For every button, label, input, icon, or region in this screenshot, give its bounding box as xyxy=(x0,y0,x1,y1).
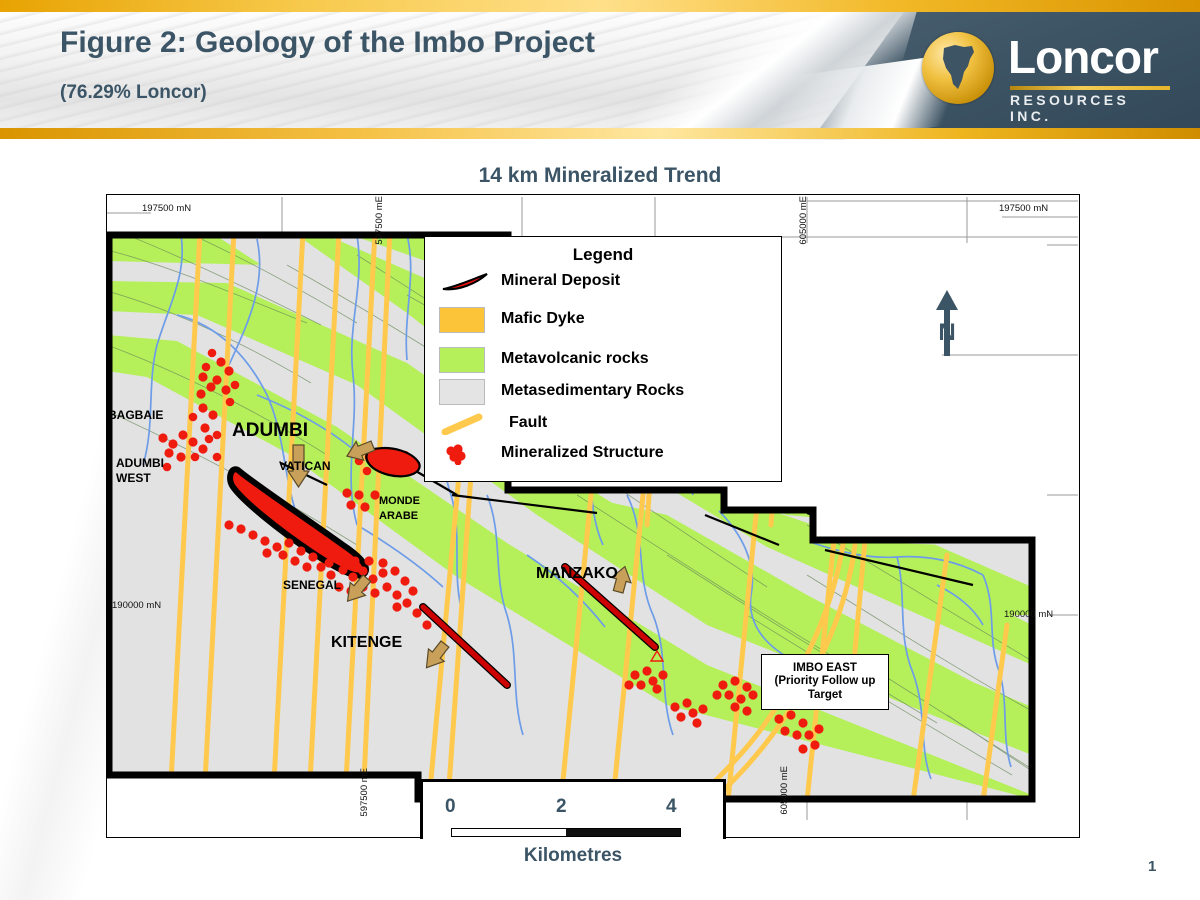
scale-caption: Kilometres xyxy=(420,845,726,867)
header-gold-bottom-bar xyxy=(0,128,1200,139)
metavolcanic-swatch xyxy=(439,347,485,373)
legend-label: Mafic Dyke xyxy=(501,310,585,328)
map-label-vatican: VATICAN xyxy=(279,459,331,474)
mineral-deposit-swatch xyxy=(439,271,491,293)
page-number: 1 xyxy=(1148,858,1156,875)
coord-east-easting-top: 605000 mE xyxy=(798,196,809,245)
map-title: 14 km Mineralized Trend xyxy=(0,164,1200,188)
coord-west-easting-bottom: 597500 mE xyxy=(359,768,370,817)
north-arrow-icon: N xyxy=(930,288,964,358)
page-title: Figure 2: Geology of the Imbo Project xyxy=(60,26,595,60)
map-label-adumbi-west: ADUMBI WEST xyxy=(116,456,164,486)
coord-west-easting-top: 597500 mE xyxy=(374,196,385,245)
map-label-senegal: SENEGAL xyxy=(283,578,341,593)
imbo-east-line-2: (Priority Follow up xyxy=(775,675,876,689)
africa-silhouette-icon xyxy=(938,42,980,94)
imbo-east-callout: IMBO EAST (Priority Follow up Target xyxy=(761,654,889,710)
coord-south-east: 190000 mN xyxy=(1004,609,1053,620)
map-label-bagbaie: BAGBAIE xyxy=(108,408,163,423)
legend-label: Metasedimentary Rocks xyxy=(501,382,684,400)
coord-east-easting-bottom: 605000 mE xyxy=(779,766,790,815)
coord-south-west: 190000 mN xyxy=(112,600,161,611)
slide-header: Figure 2: Geology of the Imbo Project (7… xyxy=(0,0,1200,140)
loncor-logo: Loncor RESOURCES INC. xyxy=(922,24,1172,116)
legend-label: Metavolcanic rocks xyxy=(501,350,649,368)
scale-tick-0: 0 xyxy=(445,796,456,818)
scale-bar-graphic xyxy=(451,828,681,837)
slide-background-curve xyxy=(0,140,120,900)
coord-north-east: 197500 mN xyxy=(999,203,1048,214)
imbo-east-line-3: Target xyxy=(808,689,842,703)
north-letter: N xyxy=(938,319,955,346)
logo-divider xyxy=(1010,86,1170,90)
legend-label: Fault xyxy=(509,414,547,432)
mineralized-structure-swatch xyxy=(439,443,491,465)
scale-tick-4: 4 xyxy=(666,796,677,818)
scale-tick-2: 2 xyxy=(556,796,567,818)
metasedimentary-swatch xyxy=(439,379,485,405)
imbo-east-line-1: IMBO EAST xyxy=(793,662,857,676)
map-label-kitenge: KITENGE xyxy=(331,635,402,650)
logo-wordmark: Loncor xyxy=(1008,34,1158,80)
map-label-adumbi: ADUMBI xyxy=(232,423,308,438)
logo-tagline: RESOURCES INC. xyxy=(1010,92,1172,124)
legend-title: Legend xyxy=(425,245,781,265)
coord-north-west: 197500 mN xyxy=(142,203,191,214)
map-label-monde-arabe: MONDE ARABE xyxy=(379,494,420,524)
fault-swatch xyxy=(439,413,491,435)
map-legend: Legend Mineral Deposit Mafic Dyke Metavo… xyxy=(424,236,782,482)
legend-label: Mineral Deposit xyxy=(501,272,620,290)
scale-bar-box: 0 2 4 xyxy=(420,779,726,839)
page-subtitle: (76.29% Loncor) xyxy=(60,82,207,104)
map-label-manzako: MANZAKO xyxy=(536,566,618,581)
header-gold-top-bar xyxy=(0,0,1200,12)
legend-label: Mineralized Structure xyxy=(501,444,664,462)
mafic-dyke-swatch xyxy=(439,307,485,333)
